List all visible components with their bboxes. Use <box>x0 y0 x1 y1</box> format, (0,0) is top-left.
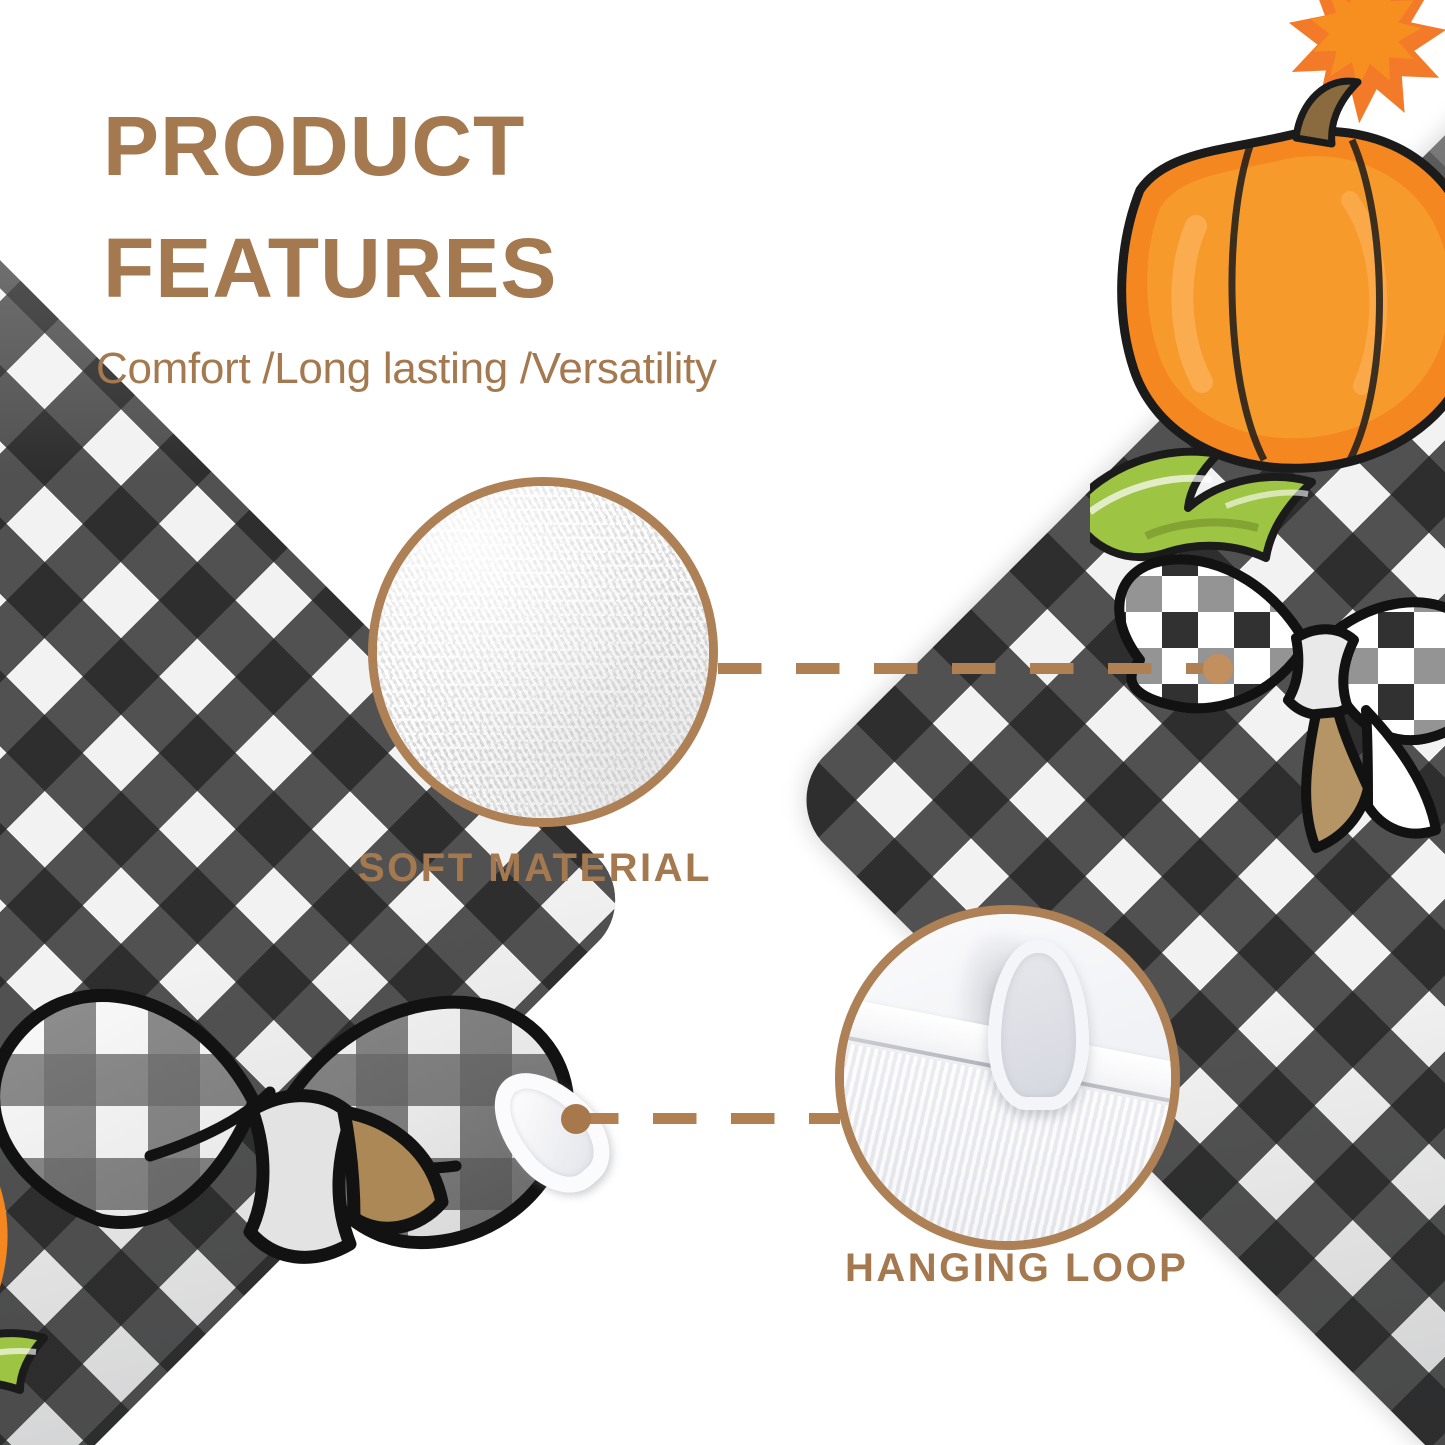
hanging-loop-detail-circle <box>835 905 1180 1250</box>
fabric-loop <box>988 940 1089 1110</box>
hanging-loop-on-mat <box>471 1050 629 1211</box>
hanging-loop-connector <box>575 1113 840 1124</box>
page-subtitle: Comfort /Long lasting /Versatility <box>96 344 717 394</box>
soft-material-photo <box>377 486 709 818</box>
soft-material-detail-circle <box>368 477 718 827</box>
soft-material-label: SOFT MATERIAL <box>358 846 712 891</box>
loop-closeup <box>844 914 1171 1241</box>
page-title-line-1: PRODUCT <box>103 86 803 208</box>
page-title: PRODUCT FEATURES <box>103 86 803 330</box>
connector-endpoint-dot <box>1203 654 1233 684</box>
terry-texture <box>377 486 709 818</box>
hanging-loop-photo <box>844 914 1171 1241</box>
dashed-line <box>575 1113 840 1124</box>
soft-material-connector <box>718 663 1223 674</box>
hanging-loop-label: HANGING LOOP <box>845 1246 1188 1291</box>
dashed-line <box>718 663 1223 674</box>
connector-endpoint-dot <box>561 1104 591 1134</box>
page-title-line-2: FEATURES <box>103 208 803 330</box>
infographic-canvas: PRODUCT FEATURES Comfort /Long lasting /… <box>0 0 1445 1445</box>
